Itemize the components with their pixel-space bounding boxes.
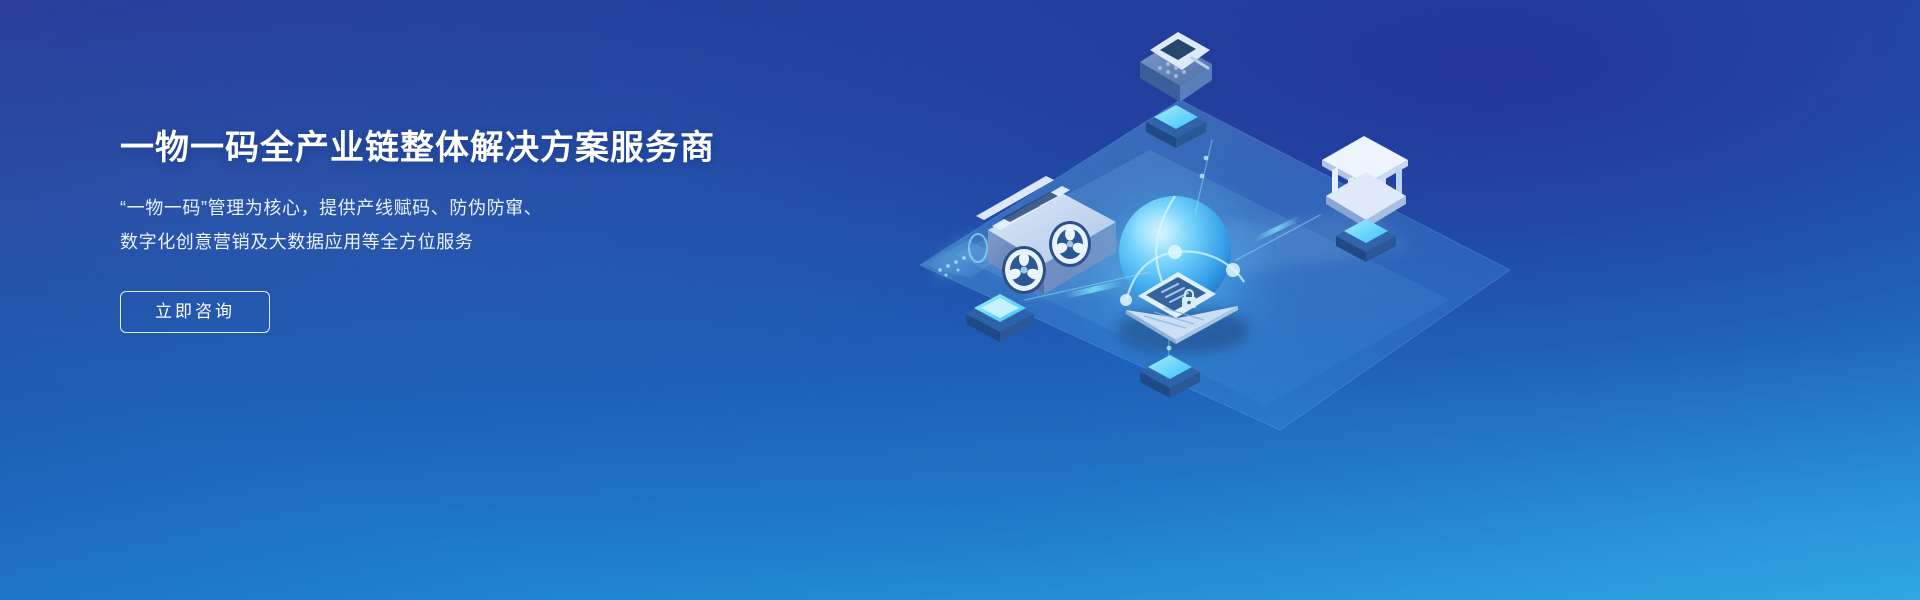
hero-banner: 一物一码全产业链整体解决方案服务商 “一物一码”管理为核心，提供产线赋码、防伪防… <box>0 0 1920 600</box>
pos-terminal-icon <box>1140 32 1212 102</box>
fan-icon <box>1002 246 1046 294</box>
hero-subtitle: “一物一码”管理为核心，提供产线赋码、防伪防窜、 数字化创意营销及大数据应用等全… <box>120 191 820 259</box>
page-title: 一物一码全产业链整体解决方案服务商 <box>120 128 820 169</box>
hero-subtitle-line-2: 数字化创意营销及大数据应用等全方位服务 <box>120 225 820 259</box>
fan-icon-2 <box>1049 221 1091 267</box>
consult-now-button[interactable]: 立即咨询 <box>120 291 270 333</box>
hero-subtitle-line-1: “一物一码”管理为核心，提供产线赋码、防伪防窜、 <box>120 191 820 225</box>
hero-copy: 一物一码全产业链整体解决方案服务商 “一物一码”管理为核心，提供产线赋码、防伪防… <box>120 128 820 333</box>
globe-bloom <box>1090 180 1260 320</box>
hero-illustration <box>850 0 1550 600</box>
